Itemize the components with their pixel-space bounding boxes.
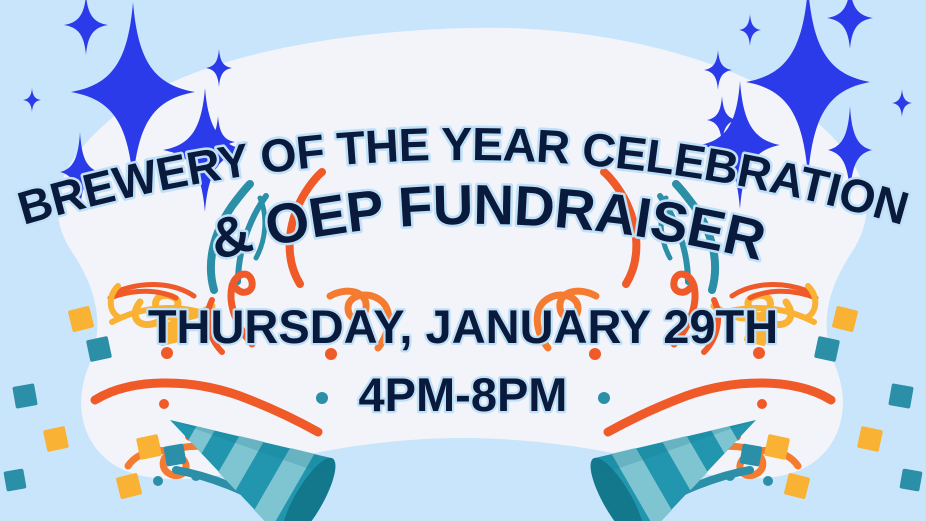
event-time: 4PM-8PM — [359, 368, 568, 421]
poster-canvas: BREWERY OF THE YEAR CELEBRATION & OEP FU… — [0, 0, 926, 521]
event-date: THURSDAY, JANUARY 29TH — [148, 300, 778, 353]
datetime-layer: THURSDAY, JANUARY 29TH 4PM-8PM — [0, 0, 926, 521]
